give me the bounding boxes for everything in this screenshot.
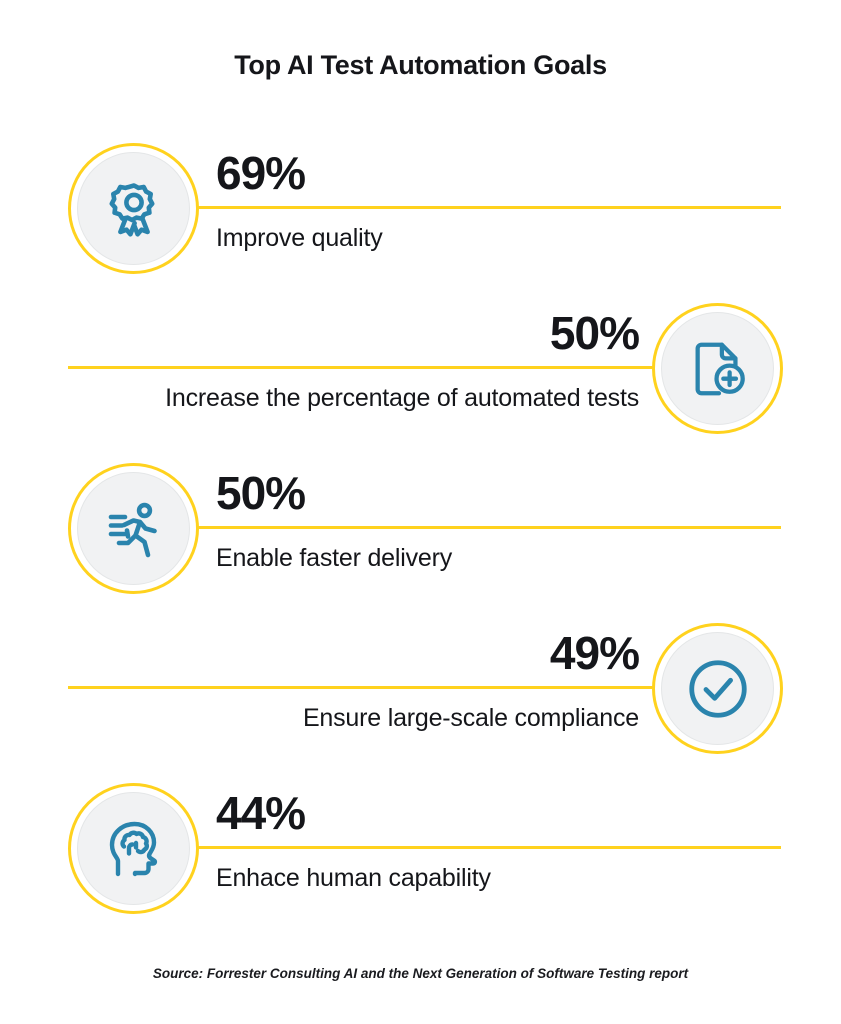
stat-text: 50% Enable faster delivery <box>216 448 452 571</box>
icon-medallion <box>68 783 199 914</box>
medallion-inner <box>661 632 774 745</box>
stat-text: 49% Ensure large-scale compliance <box>303 608 639 731</box>
stat-label: Improve quality <box>216 226 383 251</box>
stat-row: 49% Ensure large-scale compliance <box>0 608 841 768</box>
stat-percent: 50% <box>216 470 452 522</box>
stat-text: 44% Enhace human capability <box>216 768 491 891</box>
stat-percent: 44% <box>216 790 491 842</box>
stat-percent: 49% <box>303 630 639 682</box>
infographic-root: Top AI Test Automation Goals 69% Improve… <box>0 0 841 1024</box>
source-attribution: Source: Forrester Consulting AI and the … <box>0 966 841 981</box>
stats-list: 69% Improve quality <box>0 128 841 928</box>
stat-percent: 50% <box>165 310 639 362</box>
icon-medallion <box>68 463 199 594</box>
medallion-inner <box>661 312 774 425</box>
medallion-inner <box>77 472 190 585</box>
running-person-icon <box>102 497 166 561</box>
medallion-inner <box>77 792 190 905</box>
stat-label: Enhace human capability <box>216 866 491 891</box>
medallion-inner <box>77 152 190 265</box>
stat-row: 44% Enhace human capability <box>0 768 841 928</box>
icon-medallion <box>652 303 783 434</box>
stat-text: 50% Increase the percentage of automated… <box>165 288 639 411</box>
icon-medallion <box>652 623 783 754</box>
stat-label: Ensure large-scale compliance <box>303 706 639 731</box>
stat-row: 50% Increase the percentage of automated… <box>0 288 841 448</box>
award-ribbon-icon <box>102 177 166 241</box>
stat-row: 69% Improve quality <box>0 128 841 288</box>
stat-text: 69% Improve quality <box>216 128 383 251</box>
icon-medallion <box>68 143 199 274</box>
document-add-icon <box>687 338 749 400</box>
check-circle-icon <box>683 654 753 724</box>
head-brain-icon <box>102 817 166 881</box>
stat-label: Increase the percentage of automated tes… <box>165 386 639 411</box>
page-title: Top AI Test Automation Goals <box>0 50 841 81</box>
stat-label: Enable faster delivery <box>216 546 452 571</box>
stat-row: 50% Enable faster delivery <box>0 448 841 608</box>
stat-percent: 69% <box>216 150 383 202</box>
